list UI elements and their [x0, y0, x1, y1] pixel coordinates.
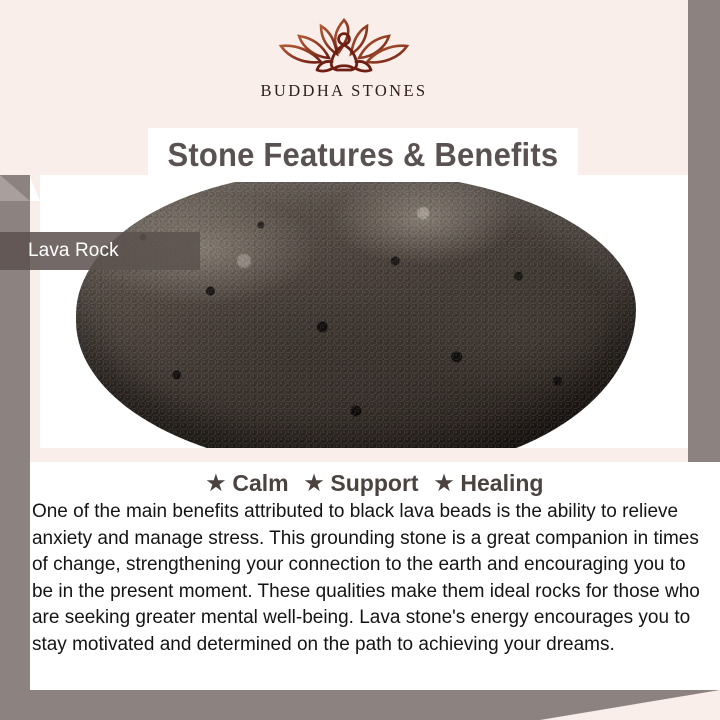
- description-paragraph: One of the main benefits attributed to b…: [30, 499, 710, 659]
- stone-name-label: Lava Rock: [0, 240, 119, 262]
- stone-photo-image: [40, 175, 688, 448]
- page-title: Stone Features & Benefits: [168, 136, 559, 174]
- benefit-label: Healing: [460, 470, 543, 497]
- benefit-label: Support: [330, 470, 418, 497]
- star-icon: ★: [435, 473, 454, 494]
- photo-content-divider: [40, 448, 688, 462]
- title-banner: Stone Features & Benefits: [148, 128, 578, 182]
- lava-rock-grain: [76, 175, 636, 448]
- benefit-item-healing: ★ Healing: [435, 470, 544, 497]
- star-icon: ★: [305, 473, 324, 494]
- lotus-meditation-figure-icon: [269, 12, 419, 78]
- benefit-item-support: ★ Support: [305, 470, 419, 497]
- stone-name-badge: Lava Rock: [0, 232, 200, 270]
- benefit-label: Calm: [232, 470, 288, 497]
- stone-photo: [40, 175, 688, 448]
- benefit-item-calm: ★ Calm: [207, 470, 289, 497]
- star-icon: ★: [207, 473, 226, 494]
- brand-name: BUDDHA STONES: [260, 81, 427, 101]
- benefits-row: ★ Calm ★ Support ★ Healing: [30, 462, 720, 497]
- frame-border-left-highlight: [30, 177, 40, 201]
- infographic-page: BUDDHA STONES Stone Features & Benefits …: [0, 0, 720, 720]
- brand-header: BUDDHA STONES: [0, 0, 688, 128]
- content-panel: ★ Calm ★ Support ★ Healing One of the ma…: [30, 462, 720, 690]
